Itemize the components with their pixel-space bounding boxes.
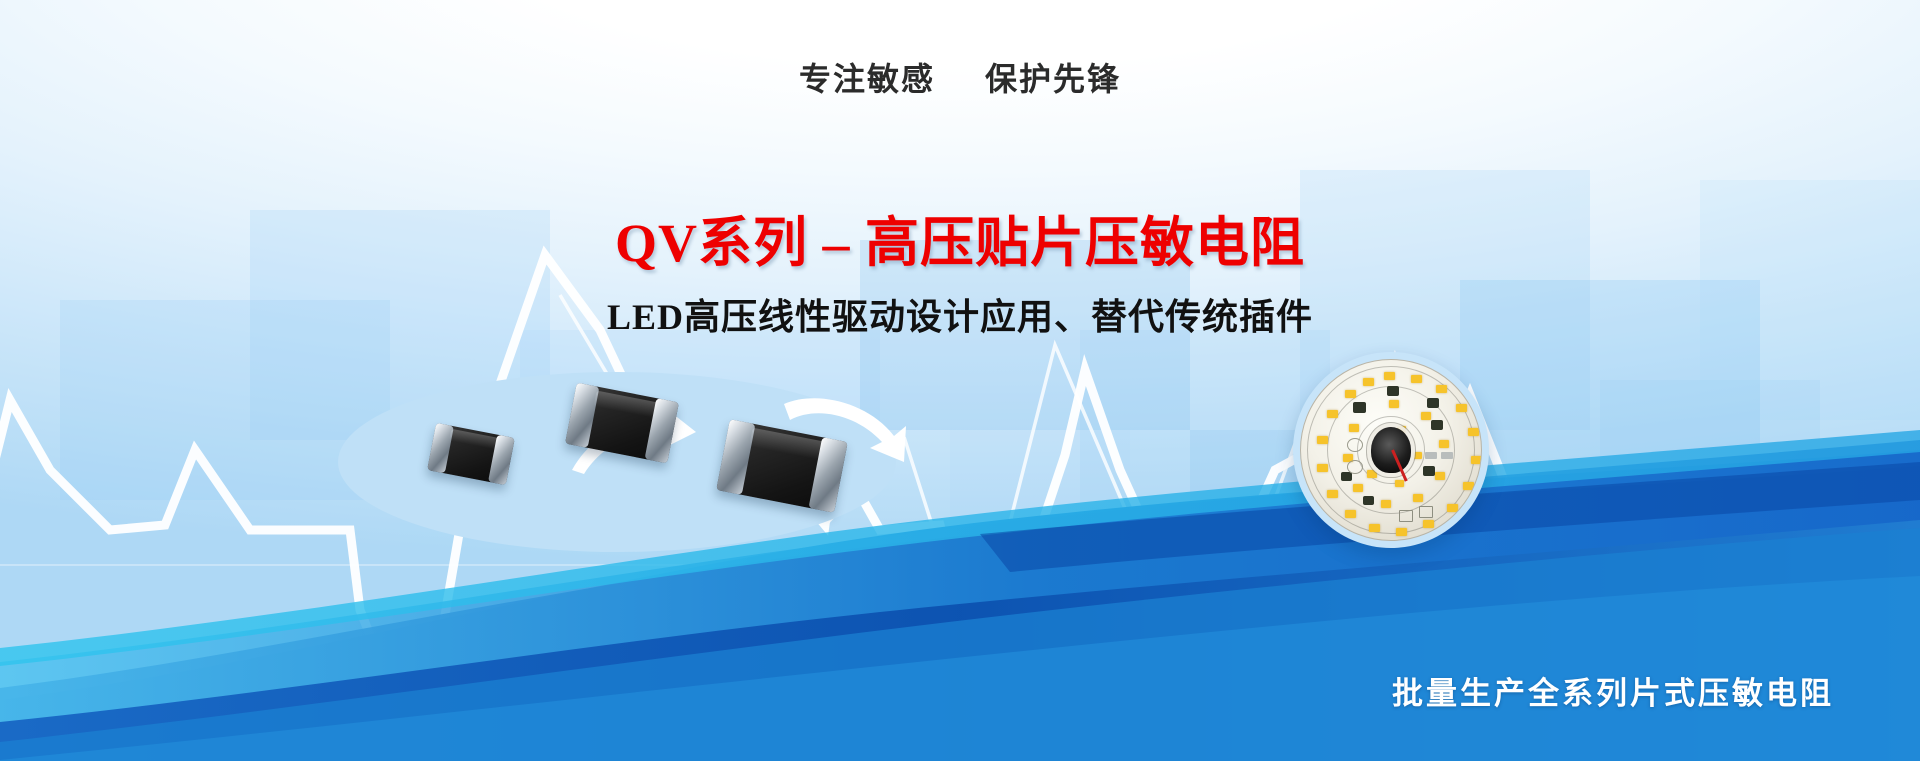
- tagline: 专注敏感 保护先锋: [0, 54, 1920, 100]
- footnote: 批量生产全系列片式压敏电阻: [1392, 668, 1834, 713]
- led-pcb-board: [1300, 359, 1482, 541]
- led-pcb-module: [1293, 352, 1489, 548]
- page-title: QV系列 – 高压贴片压敏电阻: [0, 198, 1920, 277]
- promo-banner: 专注敏感 保护先锋 QV系列 – 高压贴片压敏电阻 LED高压线性驱动设计应用、…: [0, 0, 1920, 761]
- blue-wave-bands: [0, 0, 1920, 761]
- subtitle: LED高压线性驱动设计应用、替代传统插件: [0, 288, 1920, 340]
